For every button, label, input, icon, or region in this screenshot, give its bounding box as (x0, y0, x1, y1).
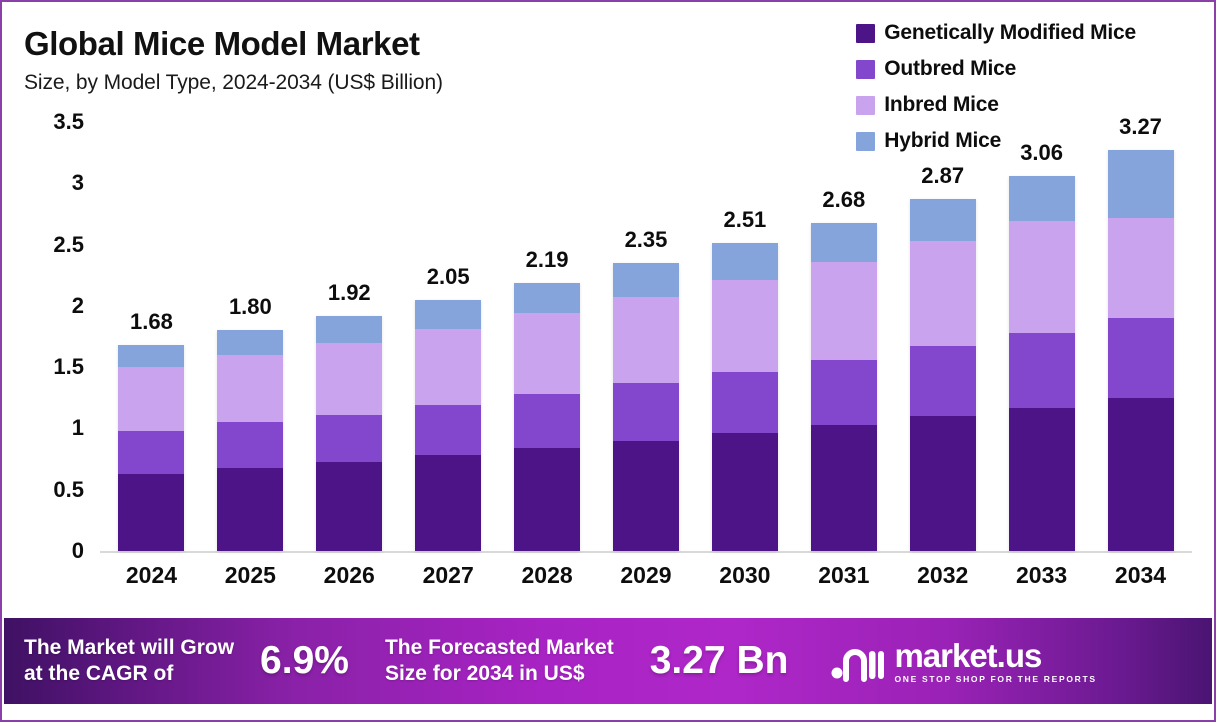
bar-segment[interactable] (712, 280, 778, 372)
forecast-size-label: The Forecasted Market Size for 2034 in U… (385, 635, 614, 686)
cagr-label: The Market will Grow at the CAGR of (24, 635, 234, 686)
chart-infographic: Global Mice Model Market Size, by Model … (0, 0, 1216, 722)
bar-column[interactable]: 2.68 (800, 122, 888, 551)
bar-segment[interactable] (1108, 218, 1174, 319)
bar-segment[interactable] (1009, 408, 1075, 551)
bar-segment[interactable] (811, 425, 877, 551)
bar-segment[interactable] (118, 431, 184, 474)
bar-stack[interactable] (514, 283, 580, 551)
x-axis: 2024202520262027202820292030203120322033… (102, 562, 1190, 589)
chart-subtitle: Size, by Model Type, 2024-2034 (US$ Bill… (24, 71, 724, 95)
bar-segment[interactable] (1108, 318, 1174, 398)
x-axis-tick-label: 2032 (899, 562, 987, 589)
bar-segment[interactable] (316, 415, 382, 462)
footer-banner: The Market will Grow at the CAGR of 6.9%… (4, 618, 1212, 704)
bar-segment[interactable] (415, 300, 481, 329)
x-axis-tick-label: 2024 (107, 562, 195, 589)
legend-item-label: Genetically Modified Mice (884, 21, 1136, 45)
y-axis-tick-label: 0.5 (53, 477, 84, 503)
bar-segment[interactable] (910, 241, 976, 346)
bar-column[interactable]: 1.92 (305, 122, 393, 551)
x-axis-baseline (100, 551, 1192, 553)
x-axis-tick-label: 2030 (701, 562, 789, 589)
bar-column[interactable]: 2.51 (701, 122, 789, 551)
y-axis-tick-label: 0 (72, 538, 84, 564)
bar-segment[interactable] (316, 462, 382, 551)
bar-value-label: 2.68 (822, 187, 865, 213)
y-axis: 00.511.522.533.5 (24, 122, 92, 552)
square-swatch-icon (856, 60, 875, 79)
x-axis-tick-label: 2028 (503, 562, 591, 589)
bar-segment[interactable] (1009, 333, 1075, 408)
bar-stack[interactable] (118, 345, 184, 551)
plot-area: 00.511.522.533.5 1.681.801.922.052.192.3… (24, 122, 1192, 607)
bar-column[interactable]: 2.19 (503, 122, 591, 551)
square-swatch-icon (856, 24, 875, 43)
bar-stack[interactable] (613, 263, 679, 551)
bar-segment[interactable] (514, 313, 580, 394)
bar-segment[interactable] (1108, 398, 1174, 551)
bar-stack[interactable] (811, 223, 877, 551)
legend-item[interactable]: Inbred Mice (856, 90, 999, 120)
bar-stack[interactable] (316, 316, 382, 551)
bar-segment[interactable] (712, 243, 778, 280)
bar-value-label: 3.27 (1119, 114, 1162, 140)
bar-segment[interactable] (514, 448, 580, 551)
bar-segment[interactable] (910, 346, 976, 416)
bar-stack[interactable] (1009, 176, 1075, 551)
page-title: Global Mice Model Market (24, 26, 724, 63)
chart-header: Global Mice Model Market Size, by Model … (24, 26, 724, 95)
bar-value-label: 1.80 (229, 294, 272, 320)
market-us-logo-mark-icon (830, 639, 884, 683)
bar-segment[interactable] (613, 297, 679, 383)
bar-value-label: 3.06 (1020, 140, 1063, 166)
bar-stack[interactable] (1108, 150, 1174, 551)
bar-value-label: 2.19 (526, 247, 569, 273)
bar-segment[interactable] (118, 367, 184, 431)
forecast-size-label-line2: Size for 2034 in US$ (385, 661, 614, 687)
bar-column[interactable]: 3.27 (1097, 122, 1185, 551)
y-axis-tick-label: 1 (72, 415, 84, 441)
y-axis-tick-label: 1.5 (53, 354, 84, 380)
bar-segment[interactable] (415, 455, 481, 551)
bar-column[interactable]: 2.05 (404, 122, 492, 551)
bar-segment[interactable] (415, 405, 481, 455)
bar-segment[interactable] (910, 199, 976, 241)
bar-value-label: 2.05 (427, 264, 470, 290)
y-axis-tick-label: 3.5 (53, 109, 84, 135)
cagr-value: 6.9% (260, 639, 349, 683)
y-axis-tick-label: 3 (72, 170, 84, 196)
bar-group: 1.681.801.922.052.192.352.512.682.873.06… (102, 122, 1190, 551)
x-axis-tick-label: 2027 (404, 562, 492, 589)
bar-column[interactable]: 2.87 (899, 122, 987, 551)
forecast-size-value: 3.27 Bn (650, 639, 789, 683)
bar-segment[interactable] (415, 329, 481, 405)
bar-segment[interactable] (217, 468, 283, 551)
bar-segment[interactable] (712, 433, 778, 551)
logo-tagline: ONE STOP SHOP FOR THE REPORTS (894, 674, 1096, 684)
bar-segment[interactable] (1108, 150, 1174, 217)
x-axis-tick-label: 2033 (998, 562, 1086, 589)
bar-segment[interactable] (217, 355, 283, 422)
legend-item-label: Outbred Mice (884, 57, 1016, 81)
bar-segment[interactable] (217, 422, 283, 467)
bar-segment[interactable] (613, 263, 679, 297)
square-swatch-icon (856, 96, 875, 115)
bar-stack[interactable] (415, 300, 481, 551)
bar-segment[interactable] (514, 394, 580, 448)
bar-value-label: 2.35 (625, 227, 668, 253)
bar-segment[interactable] (514, 283, 580, 314)
bar-segment[interactable] (613, 383, 679, 441)
x-axis-tick-label: 2025 (206, 562, 294, 589)
bar-column[interactable]: 3.06 (998, 122, 1086, 551)
bar-segment[interactable] (712, 372, 778, 433)
cagr-label-line2: at the CAGR of (24, 661, 234, 687)
bar-value-label: 2.51 (723, 207, 766, 233)
bar-value-label: 2.87 (921, 163, 964, 189)
bar-column[interactable]: 1.80 (206, 122, 294, 551)
cagr-label-line1: The Market will Grow (24, 635, 234, 661)
bar-segment[interactable] (316, 343, 382, 415)
bar-segment[interactable] (811, 360, 877, 425)
bar-segment[interactable] (316, 316, 382, 343)
y-axis-tick-label: 2 (72, 293, 84, 319)
x-axis-tick-label: 2026 (305, 562, 393, 589)
bar-segment[interactable] (811, 262, 877, 360)
bar-stack[interactable] (712, 243, 778, 551)
logo-text-block: market.us ONE STOP SHOP FOR THE REPORTS (894, 639, 1096, 684)
market-us-logo[interactable]: market.us ONE STOP SHOP FOR THE REPORTS (830, 639, 1096, 684)
logo-wordmark: market.us (894, 639, 1096, 672)
bar-column[interactable]: 1.68 (107, 122, 195, 551)
bar-segment[interactable] (811, 223, 877, 262)
bar-value-label: 1.92 (328, 280, 371, 306)
y-axis-tick-label: 2.5 (53, 232, 84, 258)
bar-stack[interactable] (910, 199, 976, 551)
legend-item[interactable]: Genetically Modified Mice (856, 18, 1136, 48)
x-axis-tick-label: 2029 (602, 562, 690, 589)
x-axis-tick-label: 2031 (800, 562, 888, 589)
bar-column[interactable]: 2.35 (602, 122, 690, 551)
bar-segment[interactable] (1009, 176, 1075, 221)
forecast-size-label-line1: The Forecasted Market (385, 635, 614, 661)
bar-stack[interactable] (217, 330, 283, 551)
bar-segment[interactable] (1009, 221, 1075, 333)
legend-item[interactable]: Outbred Mice (856, 54, 1016, 84)
bar-segment[interactable] (118, 474, 184, 551)
x-axis-tick-label: 2034 (1097, 562, 1185, 589)
bar-segment[interactable] (217, 330, 283, 355)
bar-segment[interactable] (613, 441, 679, 551)
bar-segment[interactable] (910, 416, 976, 551)
bar-value-label: 1.68 (130, 309, 173, 335)
bar-segment[interactable] (118, 345, 184, 367)
legend-item-label: Inbred Mice (884, 93, 999, 117)
